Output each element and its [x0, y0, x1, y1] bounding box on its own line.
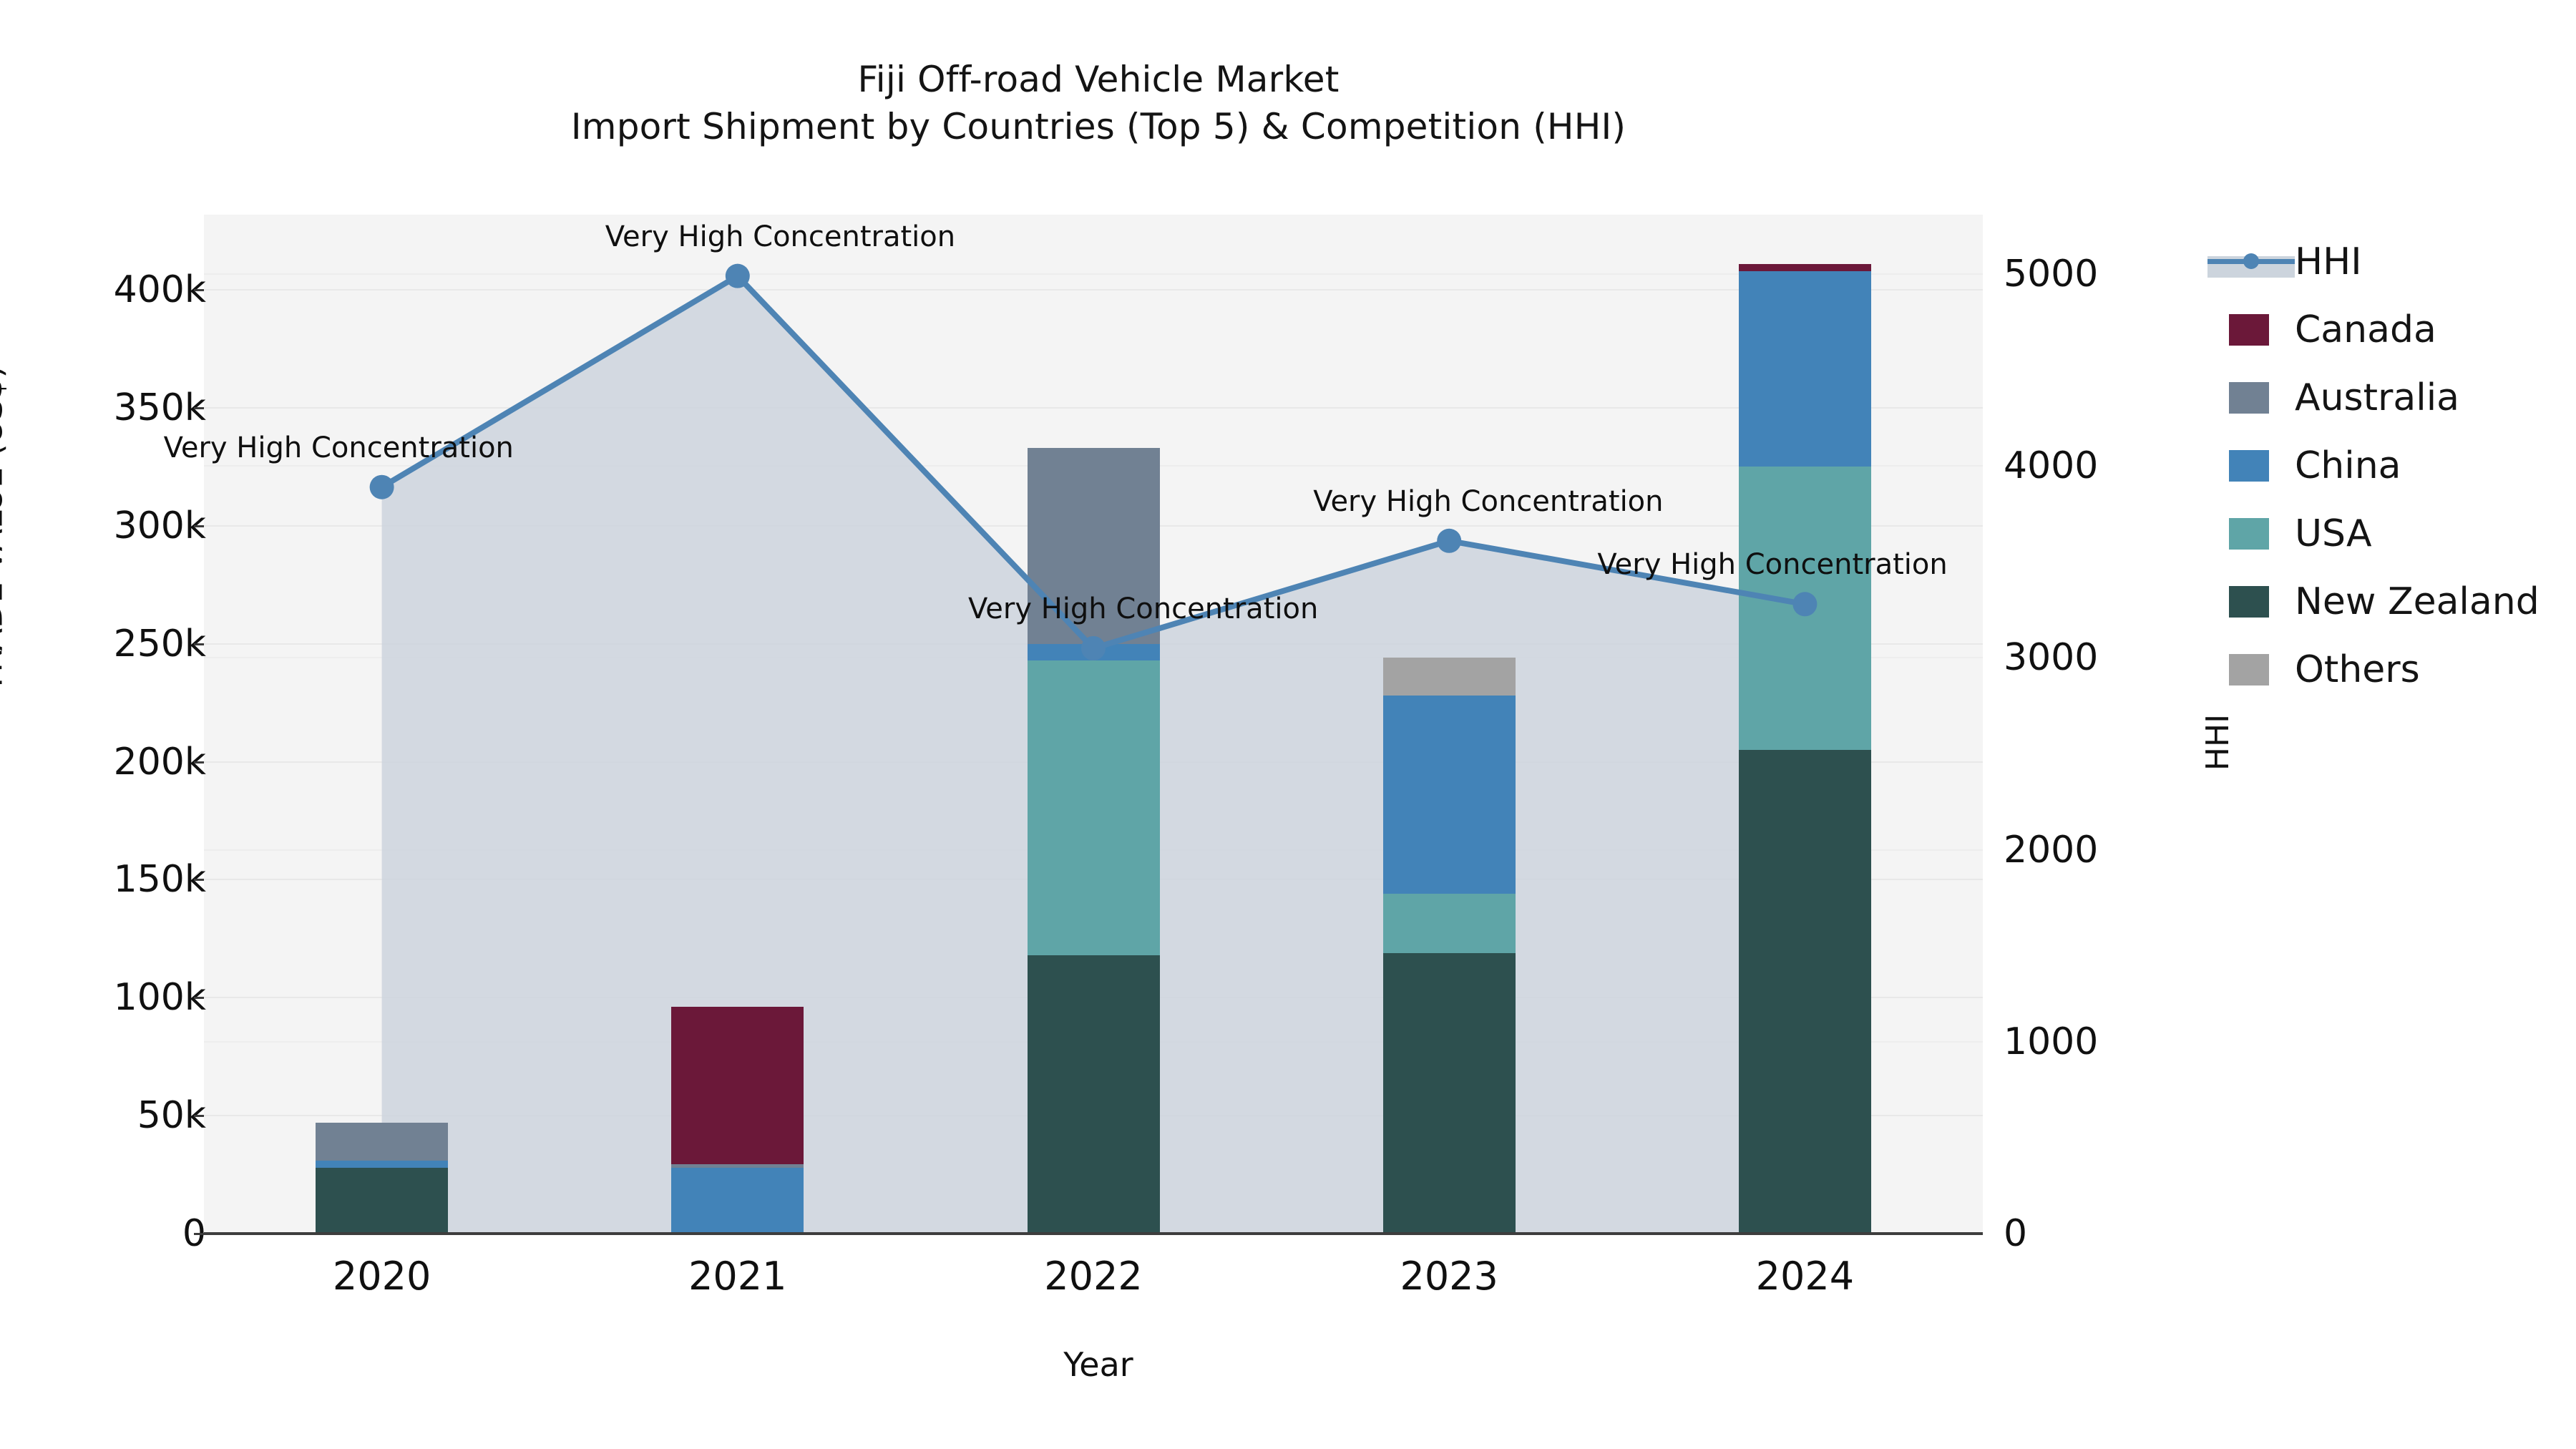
y-tick-right-0: 0 [2004, 1212, 2233, 1255]
legend-color-swatch-icon [2229, 586, 2269, 618]
chart-title-line-1: Fiji Off-road Vehicle Market [0, 56, 2197, 103]
legend-color-swatch-icon [2229, 654, 2269, 686]
bar-segment-china-2020[interactable] [316, 1161, 448, 1168]
x-tick-2024: 2024 [1697, 1254, 1912, 1299]
y-tickmark-left [194, 1115, 204, 1117]
legend-item-new-zealand[interactable]: New Zealand [2207, 567, 2565, 635]
legend-label: China [2295, 444, 2401, 487]
bar-segment-china-2023[interactable] [1383, 696, 1516, 894]
y-tick-left-150k: 150k [0, 858, 206, 901]
bar-segment-china-2021[interactable] [671, 1168, 804, 1234]
y-tick-right-5000: 5000 [2004, 253, 2233, 296]
x-axis-label: Year [0, 1345, 2197, 1384]
chart-title-line-2: Import Shipment by Countries (Top 5) & C… [0, 103, 2197, 150]
legend-color-swatch-icon [2229, 518, 2269, 550]
annotation-2022: Very High Concentration [968, 592, 1318, 625]
bar-segment-china-2022[interactable] [1028, 644, 1160, 660]
y-tickmark-left [194, 997, 204, 999]
y-tickmark-left [194, 407, 204, 409]
y-tickmark-left [194, 643, 204, 645]
annotation-2023: Very High Concentration [1313, 485, 1663, 518]
y-tick-left-0: 0 [0, 1212, 206, 1255]
bar-segment-usa-2024[interactable] [1739, 467, 1871, 750]
legend-item-canada[interactable]: Canada [2207, 296, 2565, 364]
bar-segment-australia-2020[interactable] [316, 1123, 448, 1161]
annotation-2024: Very High Concentration [1597, 548, 1947, 581]
y-tick-left-200k: 200k [0, 741, 206, 784]
x-tick-2020: 2020 [275, 1254, 489, 1299]
y-tickmark-left [194, 289, 204, 291]
bar-segment-new-zealand-2024[interactable] [1739, 750, 1871, 1234]
legend-item-hhi[interactable]: HHI [2207, 228, 2565, 296]
y-tickmark-left [194, 525, 204, 527]
y-tick-left-50k: 50k [0, 1094, 206, 1137]
legend-color-swatch-icon [2229, 382, 2269, 414]
legend-item-australia[interactable]: Australia [2207, 364, 2565, 431]
y-tick-left-400k: 400k [0, 268, 206, 311]
bar-segment-canada-2021[interactable] [671, 1007, 804, 1163]
chart-legend: HHICanadaAustraliaChinaUSANew ZealandOth… [2207, 228, 2565, 703]
bar-segment-new-zealand-2022[interactable] [1028, 955, 1160, 1234]
y-tickmark-left [194, 1233, 204, 1235]
chart-figure: Fiji Off-road Vehicle Market Import Ship… [0, 0, 2576, 1449]
legend-line-marker-icon [2243, 253, 2259, 269]
y-tick-right-4000: 4000 [2004, 444, 2233, 487]
plot-inner [204, 215, 1983, 1234]
y-tick-left-250k: 250k [0, 623, 206, 665]
y-tick-left-100k: 100k [0, 976, 206, 1019]
legend-item-usa[interactable]: USA [2207, 499, 2565, 567]
legend-label: Canada [2295, 308, 2436, 351]
bar-segment-australia-2021[interactable] [671, 1164, 804, 1168]
bar-segment-others-2023[interactable] [1383, 658, 1516, 696]
bar-segment-china-2024[interactable] [1739, 271, 1871, 467]
legend-item-others[interactable]: Others [2207, 635, 2565, 703]
chart-title: Fiji Off-road Vehicle Market Import Ship… [0, 56, 2197, 150]
annotation-2020: Very High Concentration [164, 431, 514, 464]
y-tick-right-3000: 3000 [2004, 636, 2233, 679]
bar-segment-canada-2024[interactable] [1739, 264, 1871, 271]
y-axis-right-label: HHI [2200, 714, 2236, 771]
x-axis-spine [204, 1232, 1983, 1235]
legend-label: Others [2295, 648, 2420, 691]
legend-label: HHI [2295, 240, 2362, 283]
legend-item-china[interactable]: China [2207, 431, 2565, 499]
legend-color-swatch-icon [2229, 314, 2269, 346]
bar-segment-usa-2022[interactable] [1028, 660, 1160, 955]
bar-segment-new-zealand-2020[interactable] [316, 1168, 448, 1234]
x-tick-2023: 2023 [1342, 1254, 1556, 1299]
y-tick-right-2000: 2000 [2004, 829, 2233, 872]
y-tickmark-left [194, 879, 204, 881]
y-tick-left-350k: 350k [0, 386, 206, 429]
legend-label: Australia [2295, 376, 2459, 419]
x-tick-2022: 2022 [986, 1254, 1201, 1299]
y-tickmark-left [194, 761, 204, 763]
annotation-2021: Very High Concentration [605, 220, 955, 253]
x-tick-2021: 2021 [630, 1254, 845, 1299]
bar-segment-usa-2023[interactable] [1383, 894, 1516, 952]
plot-area [204, 215, 1983, 1234]
legend-color-swatch-icon [2229, 450, 2269, 482]
bar-segment-new-zealand-2023[interactable] [1383, 953, 1516, 1234]
y-tick-left-300k: 300k [0, 504, 206, 547]
y-tick-right-1000: 1000 [2004, 1020, 2233, 1063]
legend-label: USA [2295, 512, 2372, 555]
legend-label: New Zealand [2295, 580, 2540, 623]
